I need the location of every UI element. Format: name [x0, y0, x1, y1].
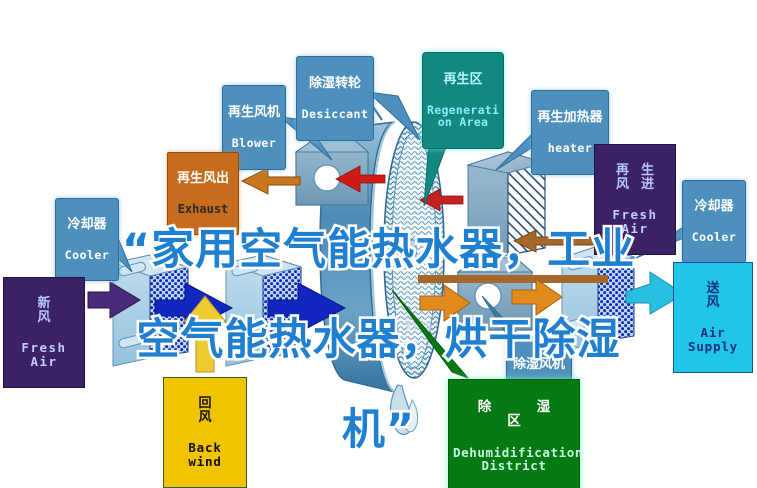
- label-dehum-district-cn: 除 湿 区: [453, 400, 575, 429]
- svg-text:XTTS: XTTS: [405, 320, 432, 333]
- label-dehum-blower-cn: 除湿风机: [511, 358, 567, 372]
- label-desiccant-en: Desiccant: [301, 108, 369, 120]
- label-exhaust-en: Exhaust: [172, 203, 234, 216]
- label-back-wind-cn: 回 风: [168, 397, 242, 425]
- diagram-canvas: XTTS: [0, 0, 757, 488]
- dehumidification-blower: [458, 258, 532, 330]
- label-fresh-air: 新 风 Fresh Air: [3, 277, 85, 388]
- label-regen-heater-cn: 再生加热器: [536, 111, 604, 125]
- overlay-title-line3: 机”: [0, 408, 757, 453]
- label-regeneration-area: 再生区 Regenerati on Area: [422, 52, 504, 149]
- label-regen-blower-cn: 再生风机: [227, 106, 281, 120]
- overlay-title-line2: 空气能热水器，烘干除湿: [0, 318, 757, 363]
- label-regeneration-area-en: Regenerati on Area: [427, 104, 499, 128]
- cooler-coil-left: [113, 255, 188, 366]
- label-regen-fresh-air: 再生风进 Fresh Air: [594, 144, 676, 255]
- label-regen-fresh-air-cn: 再生风进: [599, 164, 671, 192]
- label-cooler-left-en: Cooler: [60, 249, 114, 261]
- arrow-regen-hot: [336, 166, 385, 192]
- cooler-coil-right: [562, 246, 634, 352]
- cooler-coil-mid: [226, 255, 301, 366]
- label-fresh-air-cn: 新 风: [8, 297, 80, 325]
- label-cooler-right-cn: 冷却器: [687, 200, 741, 214]
- arrow-process-2: [268, 283, 345, 333]
- arrow-regen-return: [420, 189, 463, 211]
- label-cooler-left-cn: 冷却器: [60, 218, 114, 232]
- label-dehumidification-district: 除 湿 区 Dehumidification District: [448, 379, 580, 488]
- regeneration-blower: [296, 138, 368, 205]
- label-cooler-left: 冷却器 Cooler: [55, 198, 119, 281]
- label-cooler-right: 冷却器 Cooler: [682, 180, 746, 263]
- label-air-supply-en: Air Supply: [678, 326, 748, 353]
- label-cooler-right-en: Cooler: [687, 231, 741, 243]
- label-back-wind-en: Back wind: [168, 441, 242, 468]
- arrow-dry-air-2: [512, 279, 562, 315]
- label-regen-fresh-air-en: Fresh Air: [599, 208, 671, 235]
- label-dehum-district-en: Dehumidification District: [453, 446, 575, 473]
- arrow-dry-air-1: [420, 285, 470, 321]
- arrow-exhaust: [242, 168, 300, 194]
- arrow-regen-loop: [418, 275, 608, 283]
- label-desiccant-cn: 除湿转轮: [301, 77, 369, 91]
- arrow-back-wind: [184, 296, 226, 372]
- label-back-wind: 回 风 Back wind: [163, 377, 247, 488]
- label-exhaust-cn: 再生风出: [172, 172, 234, 186]
- label-regeneration-area-cn: 再生区: [427, 73, 499, 87]
- label-fresh-air-en: Fresh Air: [8, 341, 80, 368]
- arrow-process-1: [155, 283, 232, 333]
- label-regen-blower-en: Blower: [227, 137, 281, 149]
- label-air-supply-cn: 送 风: [678, 282, 748, 310]
- desiccant-rotor: XTTS: [320, 122, 444, 434]
- label-air-supply: 送 风 Air Supply: [673, 262, 753, 373]
- label-exhaust: 再生风出 Exhaust: [167, 152, 239, 235]
- label-desiccant: 除湿转轮 Desiccant: [296, 56, 374, 141]
